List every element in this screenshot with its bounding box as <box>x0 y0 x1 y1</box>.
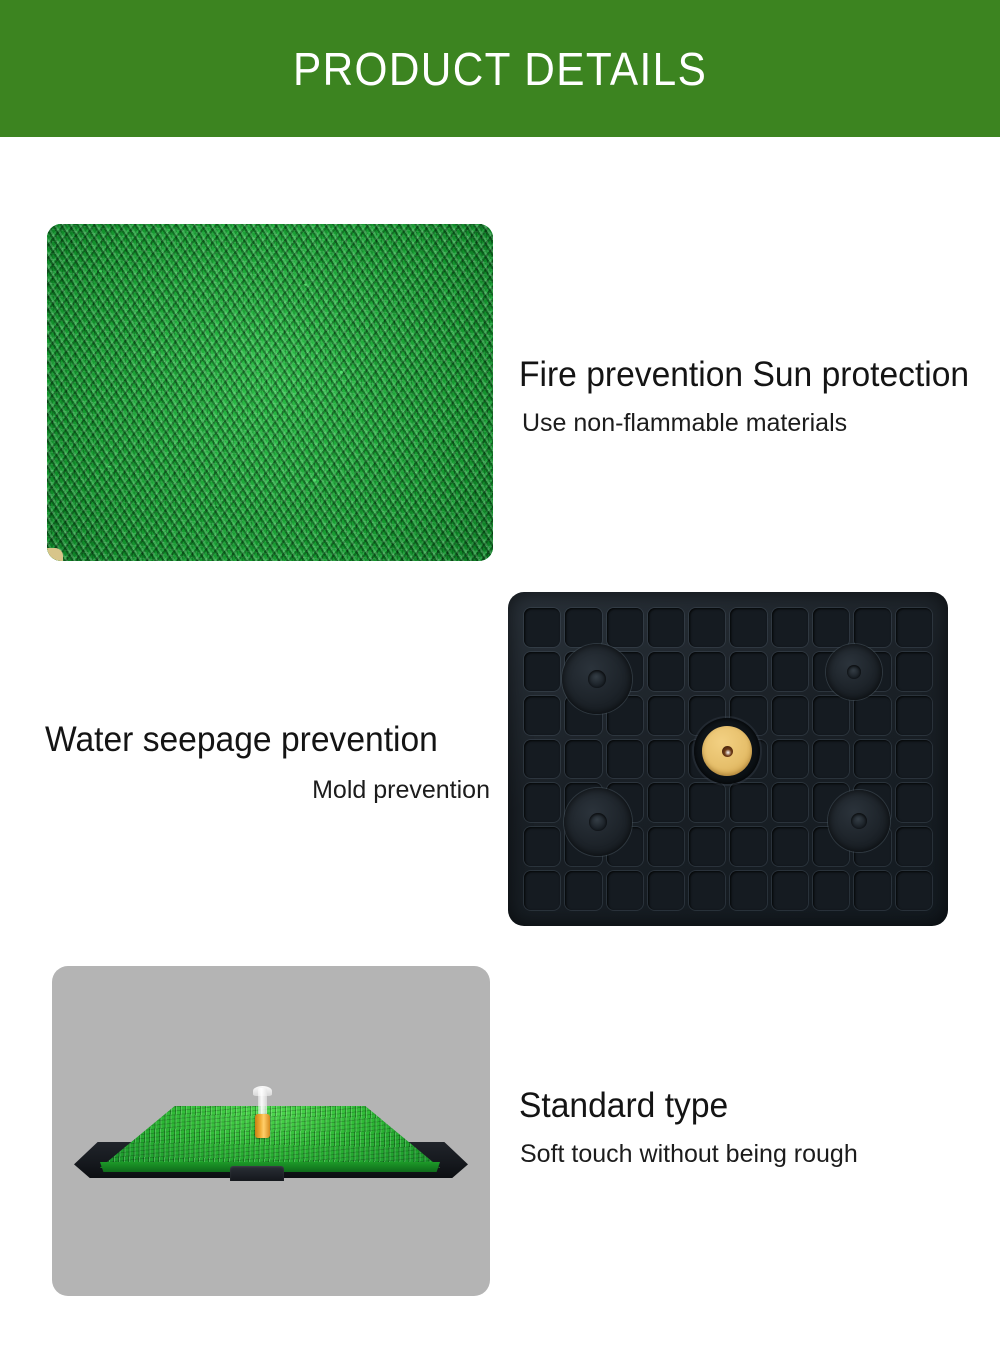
mat-cell <box>648 696 684 735</box>
tee-holder-disc <box>702 726 752 776</box>
mat-cell <box>854 696 890 735</box>
mat-cell <box>565 608 601 647</box>
feature-heading-fire-prevention: Fire prevention Sun protection <box>519 355 970 396</box>
mat-circular-pad-bottom-right <box>828 790 890 852</box>
feature-subtext-standard-type: Soft touch without being rough <box>520 1139 989 1169</box>
mat-cell <box>648 783 684 822</box>
scene-mat-turf-surface <box>100 1106 440 1168</box>
mat-cell <box>772 740 808 779</box>
tee-holder-hole <box>722 746 733 757</box>
mat-cell <box>648 652 684 691</box>
golf-tee-body <box>255 1114 270 1138</box>
mat-cell <box>689 652 725 691</box>
mat-cell <box>813 696 849 735</box>
mat-cell <box>607 871 643 910</box>
mat-cell <box>730 871 766 910</box>
feature-image-golf-mat-scene <box>52 966 490 1296</box>
mat-cell <box>813 871 849 910</box>
mat-cell <box>524 652 560 691</box>
scene-mat-front-latch <box>230 1166 284 1181</box>
mat-cell <box>730 783 766 822</box>
mat-center-tee-socket <box>694 718 760 784</box>
mat-cell <box>896 740 932 779</box>
mat-cell <box>854 871 890 910</box>
mat-cell <box>689 871 725 910</box>
feature-subtext-fire-prevention: Use non-flammable materials <box>522 408 989 438</box>
mat-cell <box>772 608 808 647</box>
feature-heading-water-seepage-prevention: Water seepage prevention <box>45 720 474 761</box>
pad-center-hole <box>851 813 867 829</box>
mat-cell <box>689 827 725 866</box>
turf-texture-fill <box>47 224 493 561</box>
feature-heading-standard-type: Standard type <box>519 1086 970 1127</box>
page-title: PRODUCT DETAILS <box>293 46 707 92</box>
mat-cell <box>648 827 684 866</box>
mat-cell <box>730 608 766 647</box>
mat-cell <box>896 871 932 910</box>
mat-cell <box>648 608 684 647</box>
mat-cell <box>607 608 643 647</box>
mat-cell <box>896 608 932 647</box>
mat-cell <box>813 608 849 647</box>
feature-image-turf-texture <box>47 224 493 561</box>
mat-circular-pad-top-right <box>826 644 882 700</box>
mat-cell <box>689 608 725 647</box>
mat-cell <box>565 871 601 910</box>
pad-center-hole <box>589 813 607 831</box>
mat-circular-pad-top-left <box>562 644 632 714</box>
mat-cell <box>896 652 932 691</box>
turf-corner-chip <box>47 548 63 561</box>
pad-center-hole <box>588 670 606 688</box>
mat-cell <box>772 871 808 910</box>
feature-text-water-seepage-prevention: Water seepage prevention Mold prevention <box>20 720 492 805</box>
mat-cell <box>648 740 684 779</box>
mat-cell <box>896 783 932 822</box>
mat-cell <box>524 827 560 866</box>
mat-cell <box>896 696 932 735</box>
mat-cell <box>896 827 932 866</box>
mat-cell <box>813 740 849 779</box>
mat-cell <box>772 696 808 735</box>
mat-cell <box>854 740 890 779</box>
mat-cell <box>524 783 560 822</box>
mat-cell <box>524 740 560 779</box>
feature-text-fire-prevention: Fire prevention Sun protection Use non-f… <box>519 355 989 438</box>
mat-circular-pad-bottom-left <box>564 788 632 856</box>
mat-cell <box>854 608 890 647</box>
mat-cell <box>607 740 643 779</box>
feature-text-standard-type: Standard type Soft touch without being r… <box>519 1086 989 1169</box>
mat-cell <box>524 608 560 647</box>
feature-image-rubber-base-mat <box>508 592 948 926</box>
mat-cell <box>772 783 808 822</box>
header-banner: PRODUCT DETAILS <box>0 0 1000 137</box>
mat-cell <box>772 827 808 866</box>
mat-cell <box>772 652 808 691</box>
pad-center-hole <box>847 665 862 680</box>
mat-cell <box>524 871 560 910</box>
mat-cell <box>689 783 725 822</box>
feature-subtext-mold-prevention: Mold prevention <box>20 775 492 805</box>
mat-cell <box>730 652 766 691</box>
mat-cell <box>648 871 684 910</box>
mat-cell <box>565 740 601 779</box>
mat-cell <box>524 696 560 735</box>
mat-cell <box>730 827 766 866</box>
